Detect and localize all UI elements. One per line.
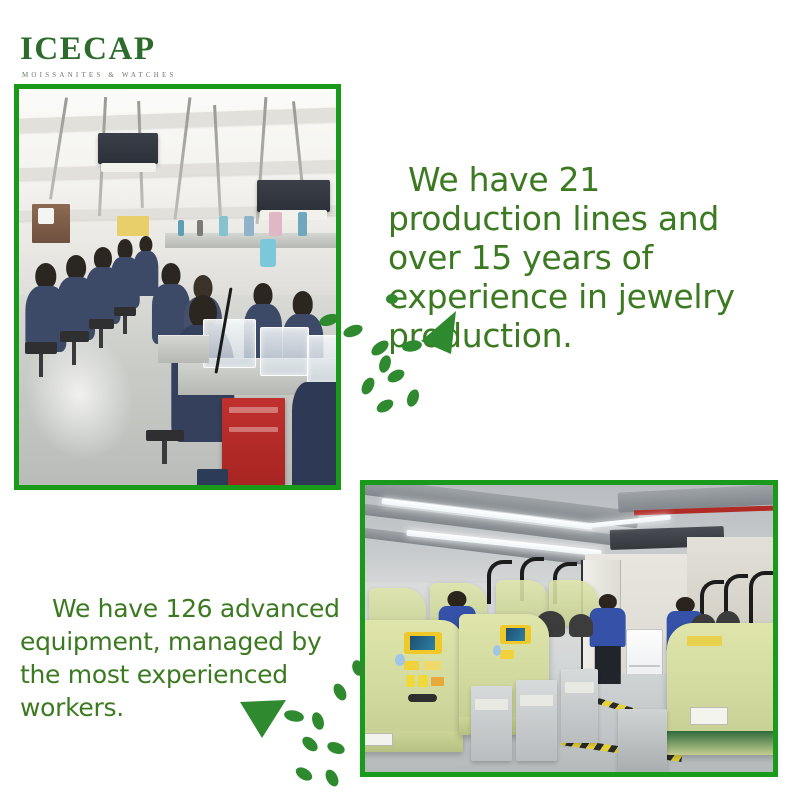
control-pedestal [618,709,667,772]
machine-hose [749,571,773,630]
arrow-dash [350,659,365,678]
arrow-dash [359,375,377,396]
arrow-to-equipment-text [228,656,398,801]
control-panel[interactable] [520,695,553,706]
photo-machine-hall [360,480,778,777]
arrow-dash [331,681,349,702]
glass-case [260,327,310,377]
arrow-dash [323,767,341,788]
glass-case [203,319,256,369]
floor-bag [197,469,229,485]
arrow-head [421,311,456,354]
workbench [158,335,209,364]
arrow-dash [342,322,365,339]
machine-button[interactable] [500,650,514,658]
hanging-tool [197,220,203,236]
arrow-dash [300,734,321,754]
control-pedestal [561,669,598,744]
warning-label [431,677,444,686]
fire-equipment-cabinet [222,398,285,485]
cabinet-label [229,407,277,413]
hanging-tool [269,212,282,236]
arrow-dash [318,312,340,329]
photo-machine-hall-content [365,485,773,772]
control-panel[interactable] [565,682,594,692]
cabinet-label [229,427,277,431]
control-panel[interactable] [475,699,508,709]
machine-display[interactable] [404,632,442,654]
arrow-dash [326,740,347,756]
machine-handle[interactable] [408,694,438,702]
arrow-dash [405,388,421,409]
stool [89,319,114,329]
arrow-dash [377,354,393,375]
blue-canister [260,239,276,267]
poster-canvas: ICECAP MOISSANITES & WATCHES [0,0,800,800]
stool [60,331,89,343]
stool [25,342,57,354]
arrow-dash [386,294,398,304]
microscope [569,614,593,637]
hanging-tool [178,220,184,236]
hanging-tool [244,216,254,236]
arrow-dash [374,397,395,416]
hanging-tool [298,212,308,236]
arrow-dash [385,367,406,385]
machine-foreground [667,623,773,755]
machine-button[interactable] [404,661,420,670]
wall-notice [38,208,54,224]
ceiling-ac-unit [98,133,158,165]
machine-button[interactable] [423,661,441,670]
machine-plate [690,707,729,725]
machine-display[interactable] [500,625,531,644]
photo-jewelry-workshop [14,84,341,490]
stool [146,430,184,442]
brand-name: ICECAP [20,33,220,66]
arrow-dash [293,765,314,784]
brand-logo: ICECAP MOISSANITES & WATCHES [20,33,220,79]
photo-jewelry-workshop-content [19,89,336,485]
stool [114,307,136,317]
arrow-to-production-text [320,296,480,436]
wall-yellow-panel [117,216,149,236]
worker [589,594,626,680]
control-pedestal [471,686,512,761]
hanging-tool [219,216,229,236]
arrow-dash [369,338,392,359]
warning-label [406,675,416,687]
arrow-dash [401,339,423,353]
arrow-dash [283,709,305,724]
machine-base [667,731,773,755]
ceiling-ac-unit [257,180,330,212]
control-pedestal [516,680,557,760]
warning-label [418,675,428,687]
arrow-dash [310,711,326,732]
machine-button[interactable] [687,636,721,647]
brand-tagline: MOISSANITES & WATCHES [22,71,220,79]
arrow-head [240,700,286,738]
